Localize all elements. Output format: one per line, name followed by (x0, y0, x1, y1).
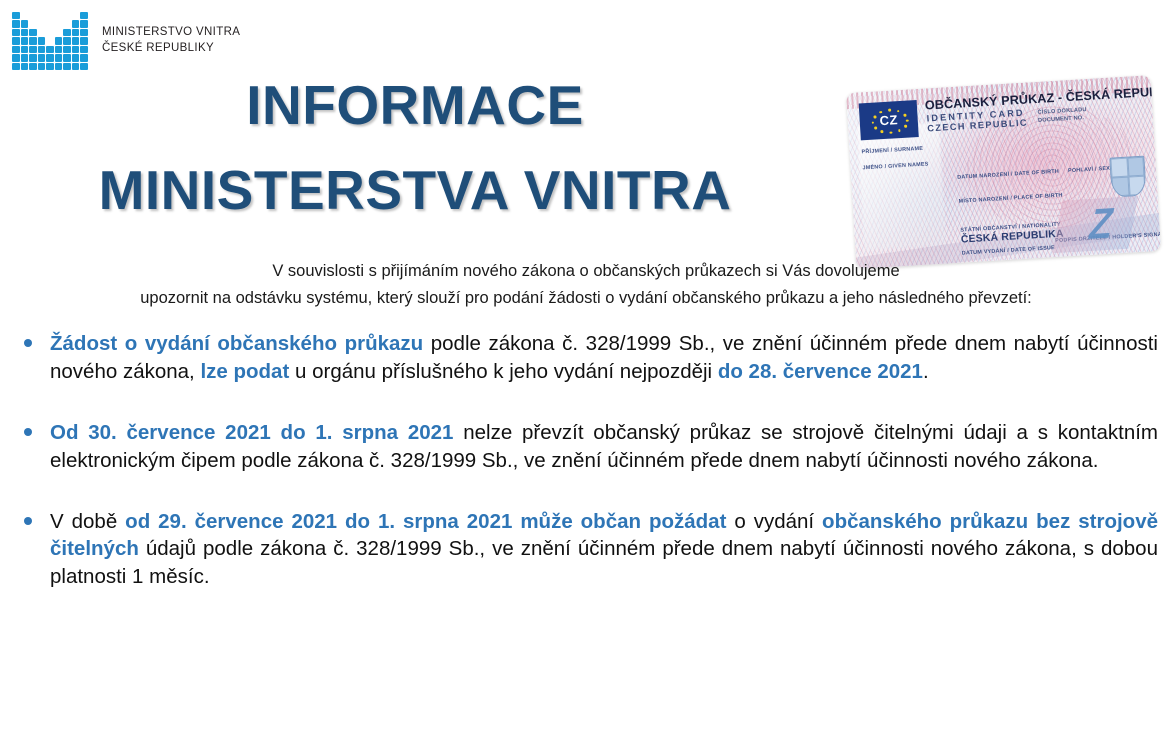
eu-emblem: CZ (859, 100, 919, 140)
logo-dot-r3-c7 (72, 37, 80, 44)
eu-star-3 (903, 114, 906, 117)
page-root: { "colors": { "title_navy": "#1F4E79", "… (0, 0, 1172, 747)
logo-dot-r5-c5 (55, 54, 63, 61)
logo-dot-r2-c6 (63, 29, 71, 36)
body-text-3: u orgánu příslušného k jeho vydání nejpo… (289, 360, 718, 383)
logo-dot-r1-c7 (72, 20, 80, 27)
logo-dot-r0-c4 (46, 12, 54, 19)
bullet-v-dobe-od-29-cervence: V době od 29. července 2021 do 1. srpna … (18, 508, 1158, 592)
logo-dot-r2-c2 (29, 29, 37, 36)
logo-dot-r5-c2 (29, 54, 37, 61)
bullet-marker-icon (24, 517, 32, 525)
logo-dot-r0-c1 (21, 12, 29, 19)
logo-dot-r5-c1 (21, 54, 29, 61)
logo-dot-r1-c3 (38, 20, 46, 27)
eu-star-1 (888, 109, 891, 112)
bullet-zadost-o-vydani: Žádost o vydání občanského průkazu podle… (18, 330, 1158, 386)
logo-dot-r3-c5 (55, 37, 63, 44)
ministry-name: MINISTERSTVO VNITRA ČESKÉ REPUBLIKY (102, 25, 240, 57)
body-text-2: o vydání (726, 510, 822, 533)
logo-dot-r2-c1 (21, 29, 29, 36)
bullet-marker-icon (24, 428, 32, 436)
czech-coat-of-arms-icon (1109, 156, 1144, 196)
logo-dot-r6-c5 (55, 63, 63, 70)
logo-dot-r2-c7 (72, 29, 80, 36)
highlighted-text-2: lze podat (200, 360, 289, 383)
intro-line1: V souvislosti s přijímáním nového zákona… (18, 258, 1154, 285)
logo-dot-r5-c4 (46, 54, 54, 61)
logo-dot-r1-c8 (80, 20, 88, 27)
logo-dot-r0-c5 (55, 12, 63, 19)
logo-dot-r2-c3 (38, 29, 46, 36)
page-title-line1: INFORMACE (0, 78, 830, 133)
logo-dot-r0-c2 (29, 12, 37, 19)
logo-dot-r3-c6 (63, 37, 71, 44)
ministry-name-line2: ČESKÉ REPUBLIKY (102, 41, 240, 57)
card-ghost-portrait (857, 123, 947, 251)
logo-dot-r0-c6 (63, 12, 71, 19)
logo-dot-r3-c2 (29, 37, 37, 44)
logo-dot-r1-c4 (46, 20, 54, 27)
logo-dot-r6-c1 (21, 63, 29, 70)
logo-dot-r6-c8 (80, 63, 88, 70)
eu-country-code: CZ (879, 112, 898, 128)
intro-paragraph: V souvislosti s přijímáním nového zákona… (18, 258, 1154, 311)
logo-dot-r5-c0 (12, 54, 20, 61)
logo-dot-r4-c6 (63, 46, 71, 53)
bullet-list: Žádost o vydání občanského průkazu podle… (18, 330, 1158, 591)
logo-dot-r2-c8 (80, 29, 88, 36)
logo-dot-r4-c3 (38, 46, 46, 53)
bullet-marker-icon (24, 339, 32, 347)
logo-dot-r6-c0 (12, 63, 20, 70)
logo-dot-r0-c8 (80, 12, 88, 19)
logo-dot-r2-c0 (12, 29, 20, 36)
eu-star-7 (889, 131, 892, 134)
logo-dot-r5-c8 (80, 54, 88, 61)
logo-dot-r6-c7 (72, 63, 80, 70)
logo-dot-r6-c3 (38, 63, 46, 70)
logo-dot-r1-c2 (29, 20, 37, 27)
logo-dot-r1-c6 (63, 20, 71, 27)
logo-dot-r6-c6 (63, 63, 71, 70)
logo-dot-r4-c4 (46, 46, 54, 53)
logo-dot-r3-c0 (12, 37, 20, 44)
ministry-name-line1: MINISTERSTVO VNITRA (102, 25, 240, 41)
eu-star-5 (904, 125, 907, 128)
logo-dot-r0-c3 (38, 12, 46, 19)
card-document-no-label: ČÍSLO DOKLADU DOCUMENT NO. (1037, 106, 1087, 125)
coa-quarter-3 (1112, 177, 1130, 197)
ministry-dot-matrix-logo-icon (12, 12, 88, 70)
eu-star-9 (874, 126, 877, 129)
eu-star-11 (873, 115, 876, 118)
logo-dot-r6-c4 (46, 63, 54, 70)
logo-dot-r3-c3 (38, 37, 46, 44)
logo-dot-r4-c5 (55, 46, 63, 53)
logo-dot-r0-c0 (12, 12, 20, 19)
logo-dot-r6-c2 (29, 63, 37, 70)
logo-dot-r2-c5 (55, 29, 63, 36)
logo-dot-r4-c2 (29, 46, 37, 53)
page-title-line2: MINISTERSTVA VNITRA (0, 163, 830, 218)
logo-dot-r4-c1 (21, 46, 29, 53)
logo-dot-r4-c0 (12, 46, 20, 53)
logo-dot-r1-c1 (21, 20, 29, 27)
page-title: INFORMACE MINISTERSTVA VNITRA (0, 78, 830, 218)
eu-star-8 (881, 130, 884, 133)
body-text-4: údajů podle zákona č. 328/1999 Sb., ve z… (50, 537, 1158, 588)
highlighted-text-0: Žádost o vydání občanského průkazu (50, 332, 423, 355)
coa-quarter-2 (1127, 157, 1145, 177)
logo-dot-r0-c7 (72, 12, 80, 19)
bullet-od-30-cervence: Od 30. července 2021 do 1. srpna 2021 ne… (18, 419, 1158, 475)
logo-dot-r1-c5 (55, 20, 63, 27)
coa-quarter-1 (1110, 158, 1128, 178)
ministry-header: MINISTERSTVO VNITRA ČESKÉ REPUBLIKY (12, 12, 240, 70)
logo-dot-r3-c1 (21, 37, 29, 44)
logo-dot-r5-c3 (38, 54, 46, 61)
id-card-illustration: CZ OBČANSKÝ PRŮKAZ - ČESKÁ REPUBLIKA IDE… (845, 72, 1165, 268)
eu-star-4 (906, 119, 909, 122)
logo-dot-r4-c8 (80, 46, 88, 53)
logo-dot-r3-c8 (80, 37, 88, 44)
body-text-0: V době (50, 510, 125, 533)
eu-star-6 (898, 129, 901, 132)
logo-dot-r1-c0 (12, 20, 20, 27)
intro-line2: upozornit na odstávku systému, který slo… (18, 285, 1154, 312)
logo-dot-r5-c6 (63, 54, 71, 61)
czech-id-card: CZ OBČANSKÝ PRŮKAZ - ČESKÁ REPUBLIKA IDE… (846, 75, 1161, 269)
highlighted-text-0: Od 30. července 2021 do 1. srpna 2021 (50, 421, 453, 444)
body-text-5: . (923, 360, 929, 383)
logo-dot-r4-c7 (72, 46, 80, 53)
highlighted-text-4: do 28. července 2021 (718, 360, 923, 383)
logo-dot-r3-c4 (46, 37, 54, 44)
highlighted-text-1: od 29. července 2021 do 1. srpna 2021 mů… (125, 510, 726, 533)
logo-dot-r2-c4 (46, 29, 54, 36)
coa-quarter-4 (1128, 176, 1146, 196)
eu-star-10 (871, 121, 874, 124)
logo-dot-r5-c7 (72, 54, 80, 61)
